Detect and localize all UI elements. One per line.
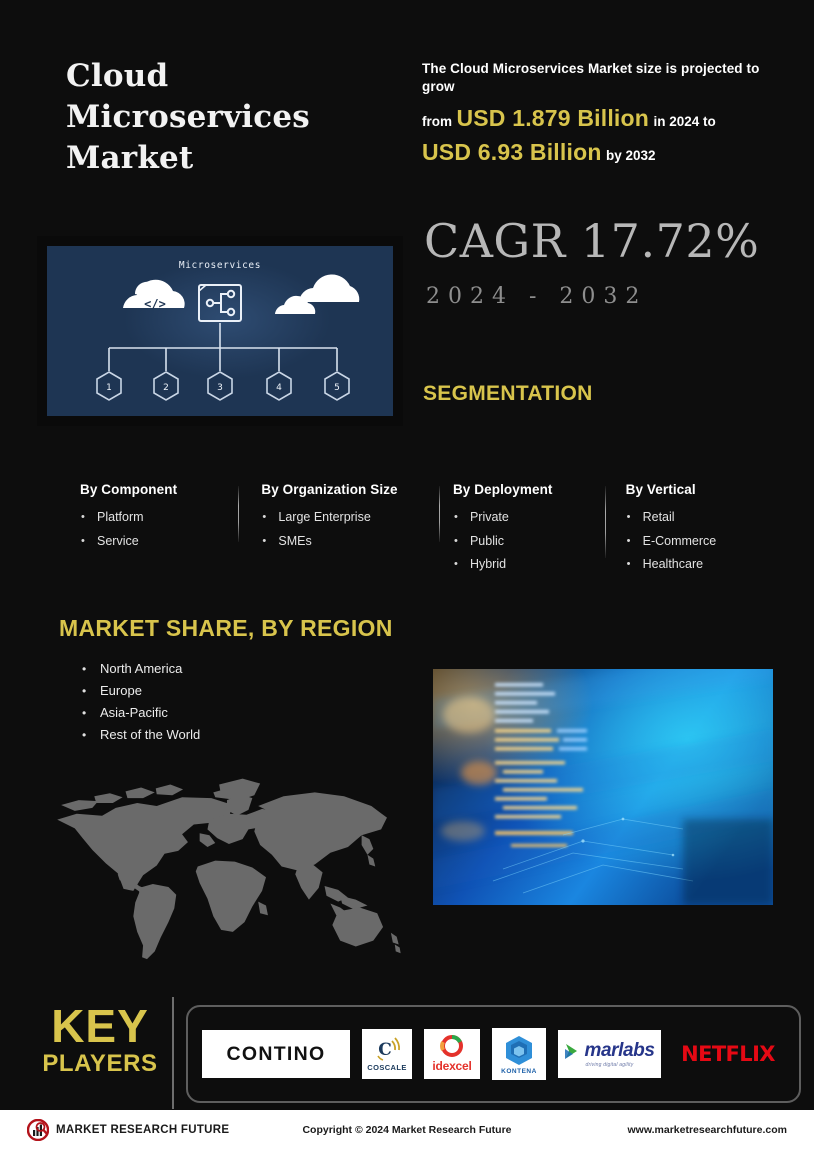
key-players-divider [172, 997, 174, 1109]
title-line-3: Market [66, 138, 396, 179]
segment-title: By Component [80, 482, 239, 497]
segment-column-by-component: By Component Platform Service [60, 482, 239, 577]
microservices-node-icon [199, 285, 241, 321]
projection-from-label: from [422, 114, 452, 129]
logo-marlabs-tagline: driving digital agility [586, 1062, 634, 1068]
logo-netflix[interactable]: NETFLIX [673, 1030, 783, 1078]
segment-column-by-organization-size: By Organization Size Large Enterprise SM… [239, 482, 440, 577]
segment-item: Platform [80, 506, 239, 530]
projection-mid-label: in 2024 to [653, 114, 715, 129]
footer-website-url[interactable]: www.marketresearchfuture.com [627, 1124, 787, 1136]
region-item: North America [80, 658, 200, 680]
segment-item: E-Commerce [626, 530, 760, 554]
segment-item: Hybrid [453, 553, 606, 577]
region-item: Asia-Pacific [80, 702, 200, 724]
technology-photo [433, 669, 773, 905]
logo-marlabs-text: marlabs [584, 1040, 654, 1062]
logo-idexcel[interactable]: idexcel [424, 1029, 480, 1079]
segment-title: By Deployment [453, 482, 606, 497]
node-label-2: 2 [163, 383, 169, 393]
footer-bar: MARKET RESEARCH FUTURE Copyright © 2024 … [0, 1110, 814, 1150]
node-label-1: 1 [106, 383, 112, 393]
microservices-diagram-image: Microservices </> [37, 236, 403, 426]
page-title: Cloud Microservices Market [66, 56, 396, 179]
node-label-4: 4 [276, 383, 282, 393]
cagr-period: 2024 - 2032 [426, 284, 647, 309]
svg-text:</>: </> [144, 297, 166, 311]
segmentation-heading: SEGMENTATION [423, 382, 593, 406]
connector-lines [109, 323, 337, 371]
key-players-line-2: PLAYERS [30, 1049, 170, 1079]
segment-item: Private [453, 506, 606, 530]
logo-marlabs[interactable]: marlabs driving digital agility [558, 1030, 661, 1078]
infographic-poster: Cloud Microservices Market The Cloud Mic… [0, 0, 814, 1150]
cagr-value: CAGR 17.72% [424, 214, 759, 268]
logo-netflix-text: NETFLIX [681, 1042, 775, 1066]
segment-item: Retail [626, 506, 760, 530]
logo-contino-text: CONTINO [226, 1043, 325, 1066]
logo-idexcel-text: idexcel [432, 1059, 471, 1073]
projection-line-3: USD 6.93 Billion by 2032 [422, 139, 792, 169]
segmentation-columns: By Component Platform Service By Organiz… [60, 482, 760, 577]
logo-coscale-text: COSCALE [367, 1063, 406, 1072]
marlabs-arrow-icon [564, 1041, 582, 1061]
segment-item: Service [80, 530, 239, 554]
microservices-graphic: </> [47, 246, 393, 416]
node-label-5: 5 [334, 383, 340, 393]
footer-brand-text: MARKET RESEARCH FUTURE [56, 1124, 229, 1136]
node-label-3: 3 [217, 383, 223, 393]
footer-copyright: Copyright © 2024 Market Research Future [302, 1124, 511, 1136]
projection-end-label: by 2032 [606, 148, 656, 163]
world-map-graphic [35, 765, 417, 965]
key-players-line-1: KEY [30, 1003, 170, 1049]
projection-value-2032: USD 6.93 Billion [422, 139, 602, 165]
hexagon-nodes [97, 372, 349, 400]
code-cloud-icon: </> [123, 280, 185, 311]
projection-value-2024: USD 1.879 Billion [456, 105, 649, 131]
footer-brand[interactable]: MARKET RESEARCH FUTURE [27, 1119, 229, 1141]
region-item: Europe [80, 680, 200, 702]
svg-text:C: C [378, 1040, 392, 1060]
map-landmass [57, 779, 400, 959]
region-list: North America Europe Asia-Pacific Rest o… [80, 658, 200, 746]
market-share-heading: MARKET SHARE, BY REGION [59, 615, 393, 642]
market-projection-text: The Cloud Microservices Market size is p… [422, 60, 792, 169]
projection-line-2: from USD 1.879 Billion in 2024 to [422, 105, 792, 135]
segment-title: By Organization Size [261, 482, 440, 497]
coscale-mark-icon: C [372, 1036, 402, 1062]
idexcel-mark-icon [439, 1035, 465, 1059]
logo-kontena[interactable]: KONTENA [492, 1028, 546, 1080]
logo-coscale[interactable]: C COSCALE [362, 1029, 412, 1079]
segment-column-by-deployment: By Deployment Private Public Hybrid [440, 482, 606, 577]
segment-item: Large Enterprise [261, 506, 440, 530]
market-research-future-logo-icon [27, 1119, 49, 1141]
title-line-2: Microservices [66, 97, 396, 138]
projection-lead: The Cloud Microservices Market size is p… [422, 60, 792, 96]
segment-column-by-vertical: By Vertical Retail E-Commerce Healthcare [606, 482, 760, 577]
segment-title: By Vertical [626, 482, 760, 497]
logo-contino[interactable]: CONTINO [202, 1030, 350, 1078]
segment-item: Healthcare [626, 553, 760, 577]
logo-kontena-text: KONTENA [501, 1068, 537, 1075]
cloud-icon [275, 275, 359, 314]
segment-item: SMEs [261, 530, 440, 554]
key-players-title: KEY PLAYERS [30, 1003, 170, 1079]
region-item: Rest of the World [80, 724, 200, 746]
kontena-mark-icon [502, 1034, 536, 1068]
key-players-logo-box: CONTINO C COSCALE idexcel [186, 1005, 801, 1103]
title-line-1: Cloud [66, 56, 396, 97]
segment-item: Public [453, 530, 606, 554]
